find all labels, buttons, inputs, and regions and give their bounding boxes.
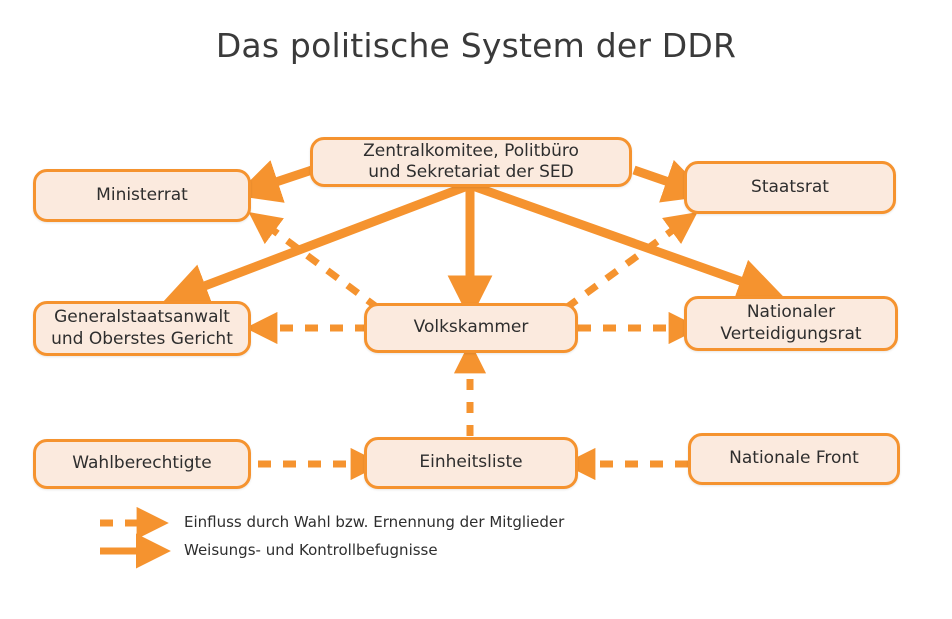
node-nationaler-verteidigungsrat[interactable]: Nationaler Verteidigungsrat <box>684 296 898 351</box>
edge-volkskammer-to-staatsrat <box>566 222 684 308</box>
node-staatsrat[interactable]: Staatsrat <box>684 161 896 214</box>
node-volkskammer[interactable]: Volkskammer <box>364 303 578 353</box>
node-sed[interactable]: Zentralkomitee, Politbüro und Sekretaria… <box>310 137 632 187</box>
node-wahlberechtigte[interactable]: Wahlberechtigte <box>33 439 251 489</box>
node-nationale-front[interactable]: Nationale Front <box>688 433 900 485</box>
edge-volkskammer-to-ministerrat <box>262 222 378 308</box>
node-volkskammer-label: Volkskammer <box>414 317 529 338</box>
node-einheitsliste-label: Einheitsliste <box>419 452 522 473</box>
legend-item-dashed: Einfluss durch Wahl bzw. Ernennung der M… <box>172 513 564 531</box>
node-generalstaatsanwalt-gericht[interactable]: Generalstaatsanwalt und Oberstes Gericht <box>33 301 251 356</box>
node-staatsrat-label: Staatsrat <box>751 177 829 198</box>
diagram-canvas: Das politische System der DDR <box>0 0 952 619</box>
node-sed-label: Zentralkomitee, Politbüro und Sekretaria… <box>363 141 579 184</box>
node-ministerrat-label: Ministerrat <box>96 185 188 206</box>
legend-item-solid: Weisungs- und Kontrollbefugnisse <box>172 541 438 559</box>
edge-sed-to-ministerrat <box>258 170 312 188</box>
edge-sed-to-staatsrat <box>634 170 686 188</box>
node-generalstaatsanwalt-gericht-label: Generalstaatsanwalt und Oberstes Gericht <box>51 307 233 350</box>
legend-item-solid-label: Weisungs- und Kontrollbefugnisse <box>184 541 438 559</box>
node-wahlberechtigte-label: Wahlberechtigte <box>72 453 211 474</box>
node-einheitsliste[interactable]: Einheitsliste <box>364 437 578 489</box>
node-nationale-front-label: Nationale Front <box>729 448 859 469</box>
node-ministerrat[interactable]: Ministerrat <box>33 169 251 222</box>
node-nationaler-verteidigungsrat-label: Nationaler Verteidigungsrat <box>720 302 861 345</box>
legend-item-dashed-label: Einfluss durch Wahl bzw. Ernennung der M… <box>184 513 564 531</box>
